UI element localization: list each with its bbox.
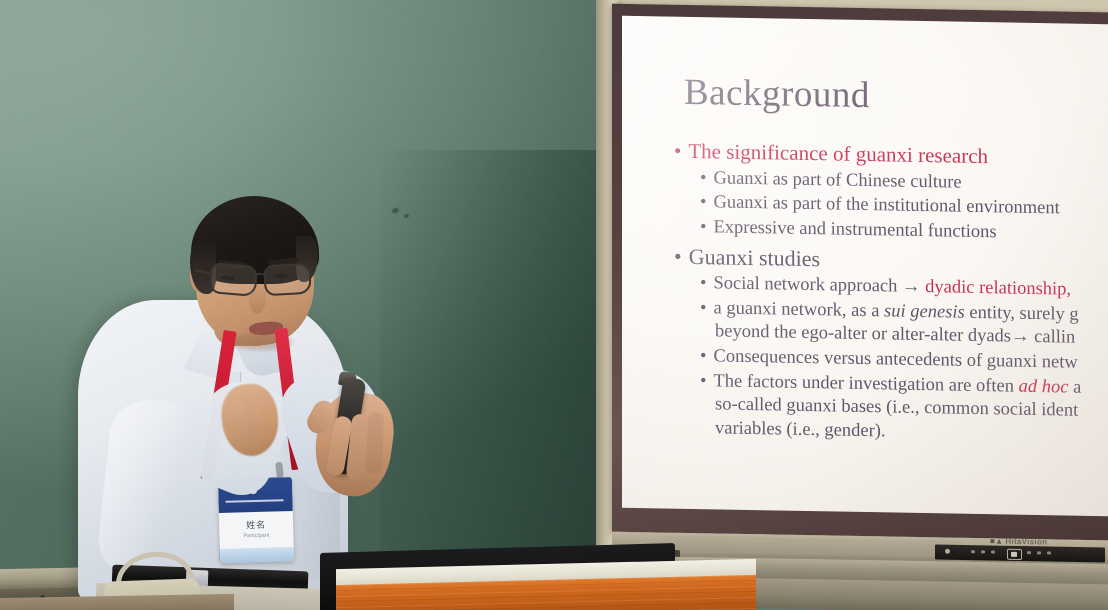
badge-name-text: 姓名 <box>219 517 293 532</box>
bullet-text: Guanxi as part of the institutional envi… <box>713 193 1059 219</box>
power-button-icon[interactable] <box>1007 549 1022 560</box>
lecture-photo-scene: Background •The significance of guanxi r… <box>0 0 1108 610</box>
finger-right <box>366 412 384 475</box>
bullet-text: beyond the ego-alter or alter-alter dyad… <box>715 322 1011 347</box>
bullet-dot-icon: • <box>700 191 706 215</box>
bullet-text: entity, surely g <box>965 302 1079 324</box>
chalkboard-speck <box>391 207 399 214</box>
display-control-bar[interactable] <box>935 545 1105 563</box>
bullet-dot-icon: • <box>700 216 706 240</box>
control-button[interactable] <box>981 550 985 553</box>
bullet-dot-icon: • <box>674 243 682 270</box>
badge-header-line <box>225 499 283 503</box>
lens-right <box>263 263 312 296</box>
chalkboard-speck <box>403 213 409 218</box>
bullet-dot-icon: • <box>700 370 706 394</box>
slide-bullet-list: •The significance of guanxi research •Gu… <box>674 139 1108 450</box>
bullet-text: Expressive and instrumental functions <box>713 217 996 242</box>
bullet-text: Social network approach <box>713 273 897 296</box>
control-button[interactable] <box>971 550 975 553</box>
projection-screen: Background •The significance of guanxi r… <box>622 16 1108 516</box>
slide-title: Background <box>684 71 870 117</box>
bullet-dot-icon: • <box>700 167 706 191</box>
control-button[interactable] <box>1027 551 1031 554</box>
arrow-icon: → <box>902 277 921 297</box>
bullet-text: Guanxi studies <box>689 244 820 271</box>
bullet-text: a guanxi network, as a <box>713 298 884 321</box>
bullet-level2-sui-genesis: •a guanxi network, as a sui genesis enti… <box>700 297 1108 352</box>
bullet-dot-icon: • <box>674 139 681 165</box>
nose <box>249 282 266 314</box>
bullet-text: callin <box>1030 327 1076 348</box>
bullet-text: Consequences versus antecedents of guanx… <box>713 346 1077 372</box>
control-button[interactable] <box>991 550 995 553</box>
bullet-text: a <box>1068 377 1081 397</box>
bullet-text: Guanxi as part of Chinese culture <box>713 168 961 192</box>
badge-footer-band <box>220 547 294 563</box>
bullet-text-italic: sui genesis <box>884 301 965 322</box>
chalkboard-shadow-region <box>380 150 620 572</box>
control-button[interactable] <box>1037 551 1041 554</box>
power-led-icon <box>945 549 950 554</box>
bullet-dot-icon: • <box>700 345 706 369</box>
bullet-text: The factors under investigation are ofte… <box>713 371 1018 396</box>
badge-subtitle-text: Participant <box>219 532 293 540</box>
finger-left <box>247 404 263 449</box>
arrow-icon: → <box>1011 327 1030 347</box>
brand-mark-icon: ■▲ <box>990 536 1003 545</box>
bullet-dot-icon: • <box>700 272 706 296</box>
bullet-text: The significance of guanxi research <box>688 139 988 168</box>
power-button-inner <box>1011 551 1017 556</box>
bullet-level2-ad-hoc-factors: •The factors under investigation are oft… <box>700 370 1108 449</box>
bullet-text-accent: dyadic relationship, <box>925 277 1071 300</box>
presentation-slide: Background •The significance of guanxi r… <box>622 16 1108 516</box>
control-button[interactable] <box>1047 551 1051 554</box>
bullet-dot-icon: • <box>700 297 706 321</box>
bullet-text-accent-italic: ad hoc <box>1019 376 1069 397</box>
